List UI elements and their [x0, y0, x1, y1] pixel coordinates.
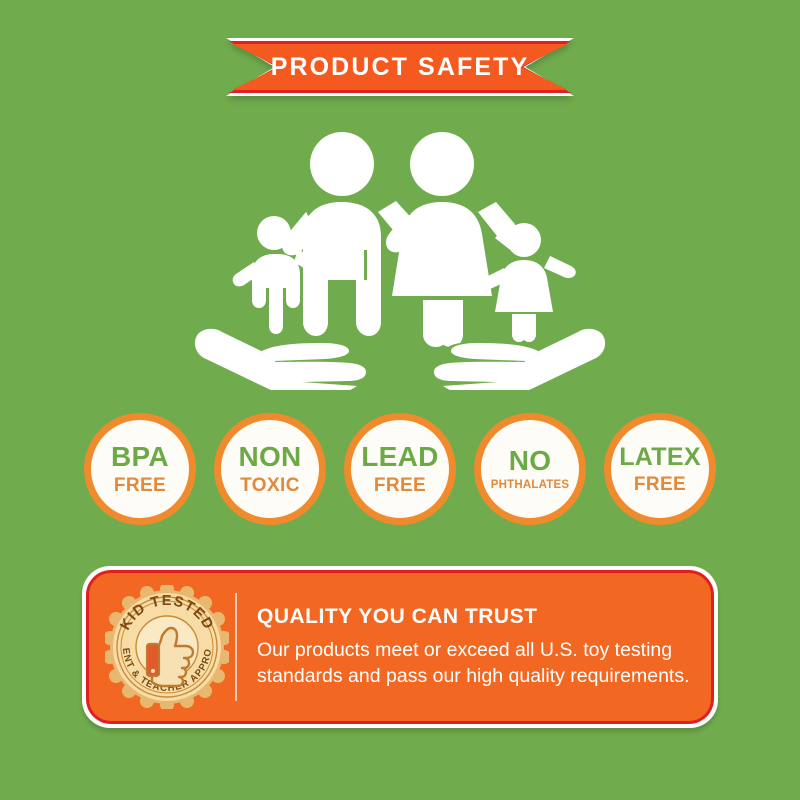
- badge-bpa-free: BPA FREE: [84, 413, 196, 525]
- panel-fill: KID TESTED · PARENT & TEACHER APPROVED ·: [89, 573, 711, 721]
- safety-badge-row: BPA FREE NON TOXIC LEAD FREE NO PHTHALAT…: [0, 413, 800, 525]
- child-girl-figure: [479, 223, 576, 342]
- product-safety-infographic: PRODUCT SAFETY: [0, 0, 800, 800]
- product-safety-banner: PRODUCT SAFETY: [226, 38, 574, 96]
- badge-bottom-text: FREE: [374, 476, 426, 495]
- badge-no-phthalates: NO PHTHALATES: [474, 413, 586, 525]
- badge-top-text: LATEX: [619, 445, 701, 470]
- open-hand-left-icon: [195, 329, 366, 390]
- badge-top-text: NON: [238, 443, 301, 471]
- banner-title: PRODUCT SAFETY: [226, 38, 574, 96]
- badge-bottom-text: PHTHALATES: [491, 480, 569, 492]
- panel-divider: [235, 593, 237, 701]
- badge-top-text: NO: [509, 447, 552, 475]
- badge-top-text: BPA: [111, 443, 169, 471]
- badge-bottom-text: TOXIC: [240, 476, 300, 495]
- badge-bottom-text: FREE: [114, 476, 166, 495]
- badge-non-toxic: NON TOXIC: [214, 413, 326, 525]
- badge-top-text: LEAD: [361, 443, 438, 471]
- panel-inner-stroke: KID TESTED · PARENT & TEACHER APPROVED ·: [86, 570, 714, 724]
- kid-tested-seal: KID TESTED · PARENT & TEACHER APPROVED ·: [105, 585, 229, 709]
- quality-trust-panel: KID TESTED · PARENT & TEACHER APPROVED ·: [82, 566, 718, 728]
- badge-lead-free: LEAD FREE: [344, 413, 456, 525]
- panel-title: QUALITY YOU CAN TRUST: [257, 605, 697, 629]
- panel-text-block: QUALITY YOU CAN TRUST Our products meet …: [257, 605, 697, 689]
- adult-mother-figure: [386, 132, 521, 347]
- badge-latex-free: LATEX FREE: [604, 413, 716, 525]
- family-in-hands-illustration: [190, 128, 610, 390]
- badge-bottom-text: FREE: [634, 475, 686, 494]
- panel-body: Our products meet or exceed all U.S. toy…: [257, 638, 697, 689]
